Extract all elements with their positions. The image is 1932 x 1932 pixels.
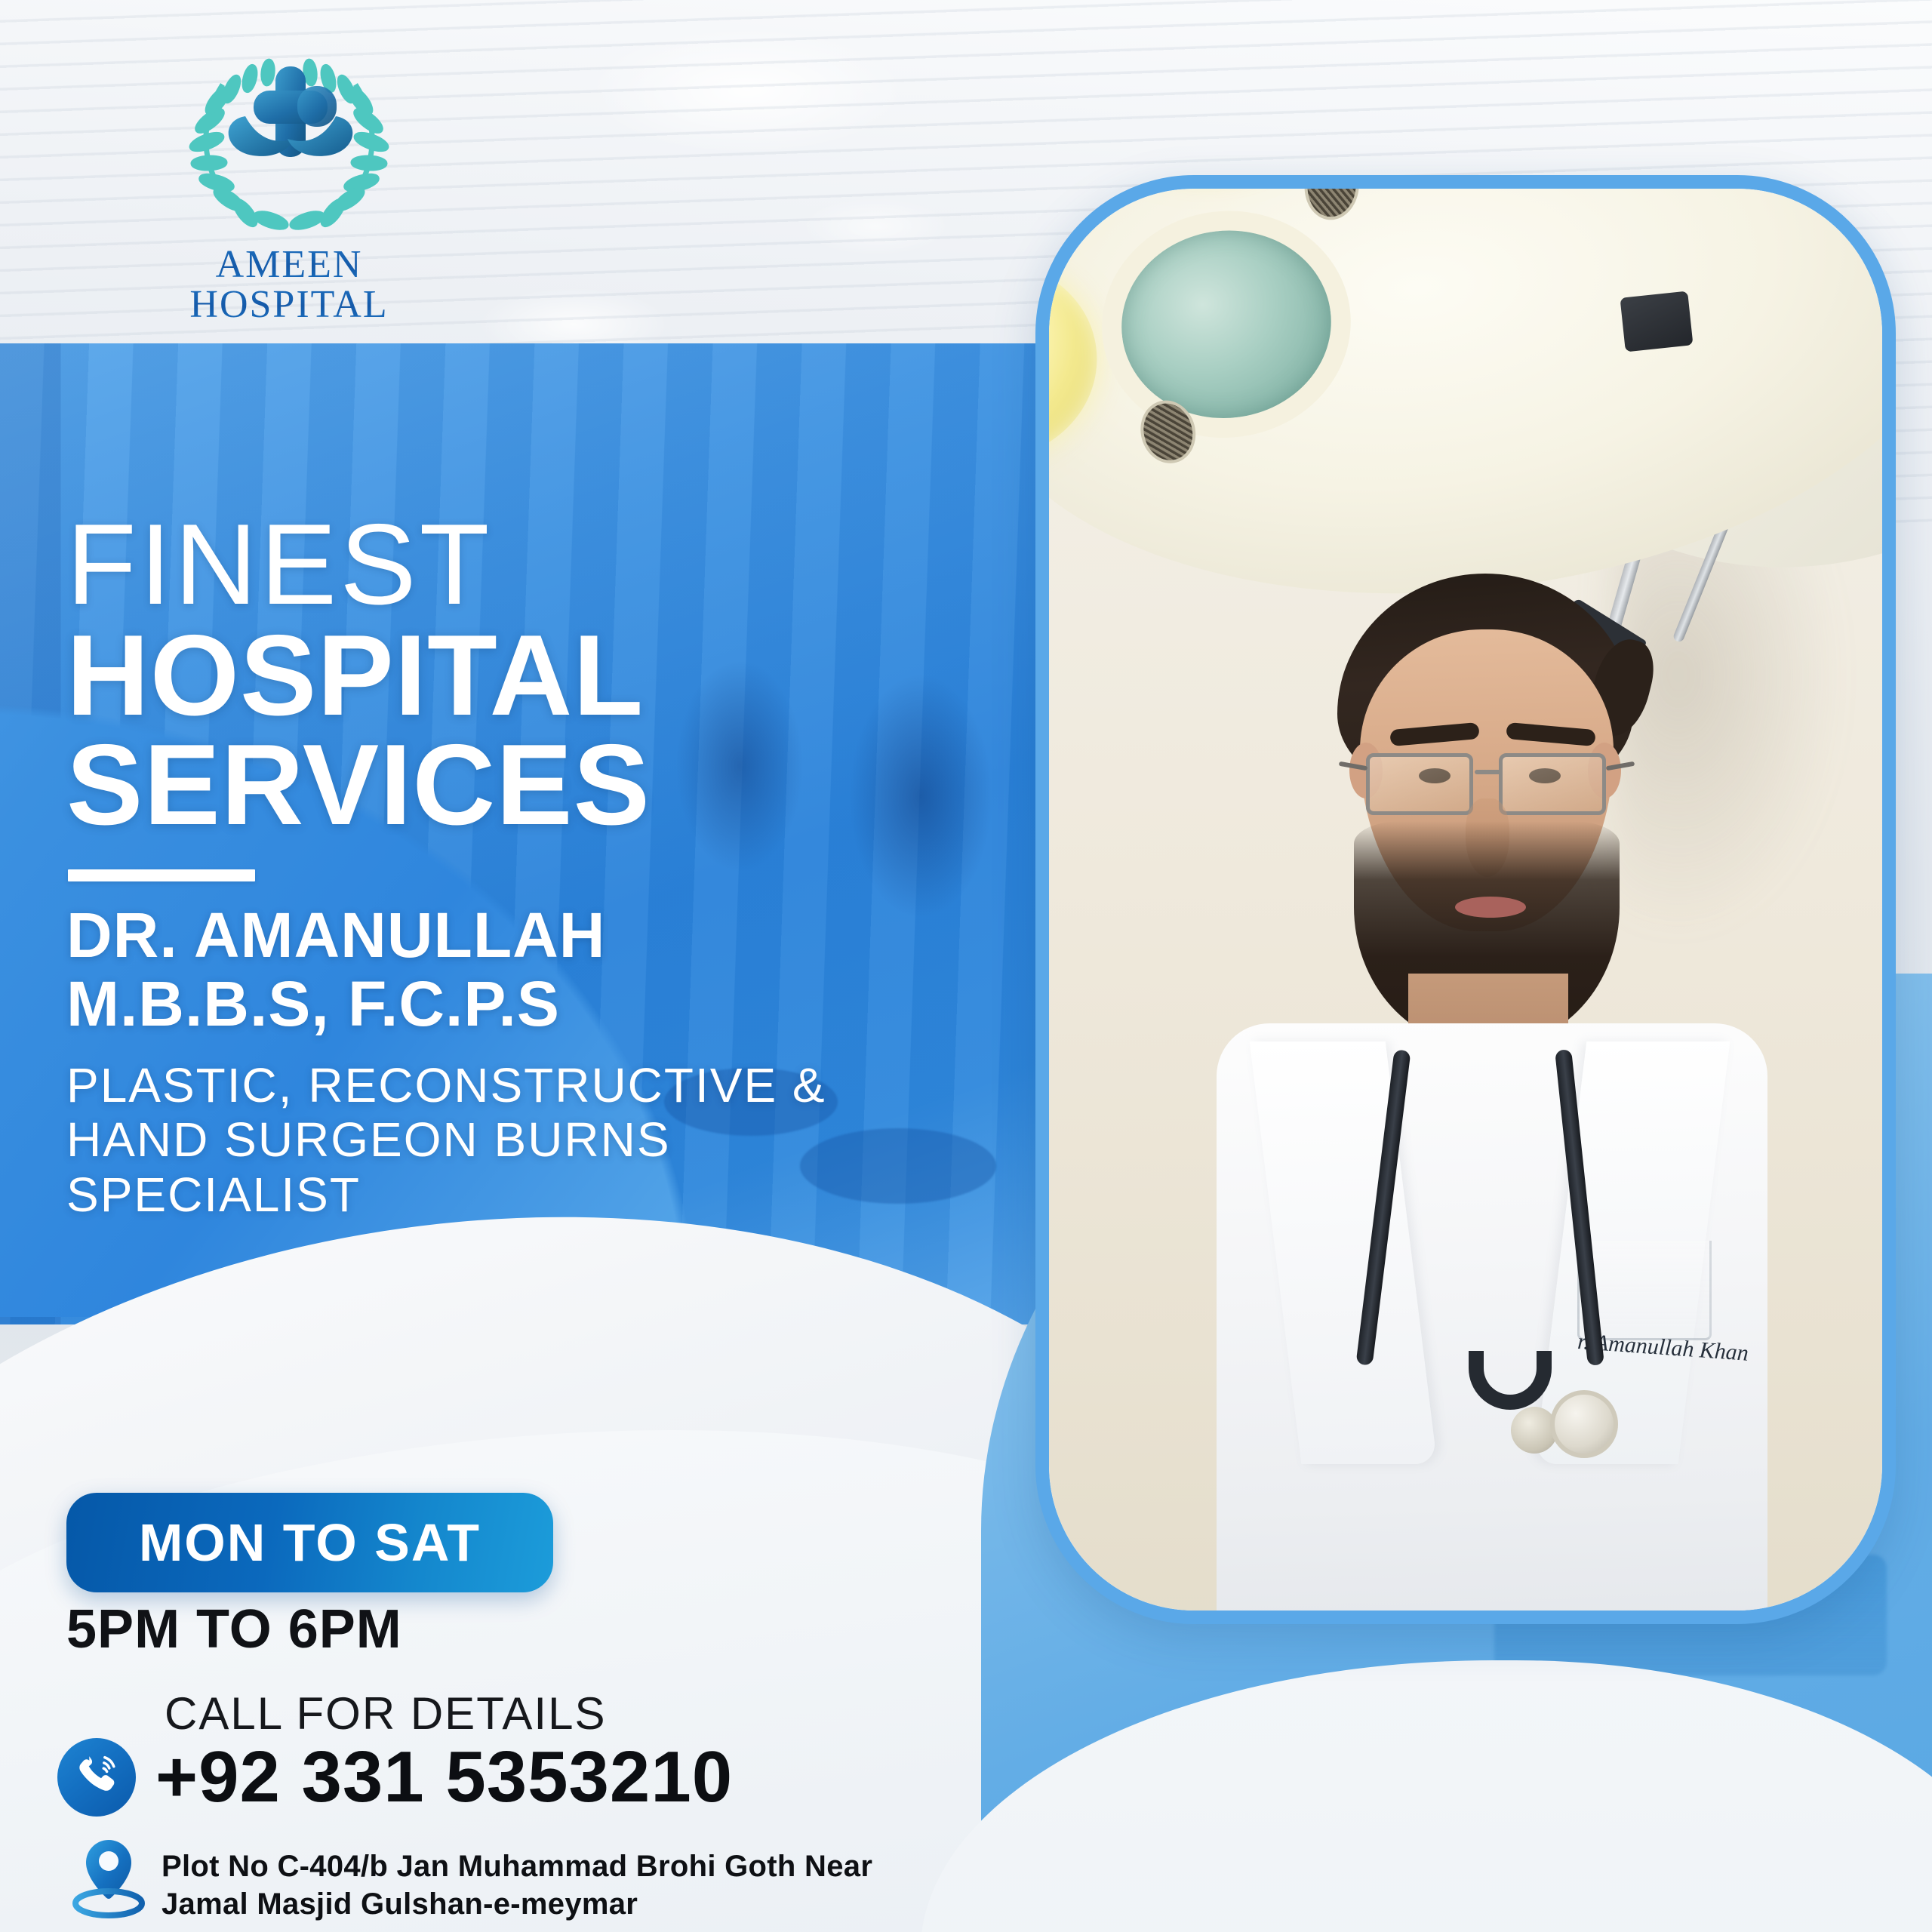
doctor-portrait-card: r. Amanullah Khan (1035, 175, 1896, 1624)
days-badge-label: MON TO SAT (139, 1512, 481, 1573)
headline-line-finest: FINEST (66, 507, 912, 622)
doctor-figure: r. Amanullah Khan (1049, 189, 1882, 1611)
eyeglass-lens-left (1366, 753, 1473, 815)
call-for-details-label: CALL FOR DETAILS (165, 1687, 606, 1740)
doctor-specialty: PLASTIC, RECONSTRUCTIVE & HAND SURGEON B… (66, 1058, 912, 1223)
headline-block: FINEST HOSPITAL SERVICES DR. AMANULLAH M… (66, 507, 912, 1223)
eyeglass-bridge (1475, 770, 1502, 774)
specialty-line-1: PLASTIC, RECONSTRUCTIVE & (66, 1058, 912, 1113)
phone-call-icon[interactable] (57, 1738, 136, 1817)
brand-name: AMEEN HOSPITAL (172, 245, 406, 325)
phone-number[interactable]: +92 331 5353210 (155, 1736, 733, 1819)
brand-logo: AMEEN HOSPITAL (172, 32, 406, 325)
headline-line-services: SERVICES (66, 727, 912, 844)
doctor-portrait-photo: r. Amanullah Khan (1049, 189, 1882, 1611)
doctor-degrees: M.B.B.S, F.C.P.S (66, 970, 912, 1038)
specialty-line-3: SPECIALIST (66, 1168, 912, 1223)
specialty-line-2: HAND SURGEON BURNS (66, 1112, 912, 1168)
doctor-mouth (1455, 897, 1526, 918)
map-pin-icon (72, 1838, 145, 1920)
days-badge: MON TO SAT (66, 1493, 553, 1592)
phone-contact-row[interactable]: +92 331 5353210 (57, 1736, 733, 1819)
headline-divider (68, 869, 255, 881)
headline-line-hospital: HOSPITAL (66, 617, 912, 734)
hours-text: 5PM TO 6PM (66, 1598, 402, 1660)
doctor-name: DR. AMANULLAH (66, 901, 912, 970)
address-text: Plot No C-404/b Jan Muhammad Brohi Goth … (162, 1847, 872, 1924)
brand-name-line2: HOSPITAL (172, 285, 406, 325)
eyeglass-lens-right (1499, 753, 1606, 815)
address-row: Plot No C-404/b Jan Muhammad Brohi Goth … (72, 1838, 872, 1924)
stethoscope-chestpiece (1550, 1390, 1618, 1458)
laurel-wreath-medical-cross-logo (176, 32, 402, 251)
hospital-services-poster: AMEEN HOSPITAL FINEST HOSPITAL SERVICES … (0, 0, 1932, 1932)
